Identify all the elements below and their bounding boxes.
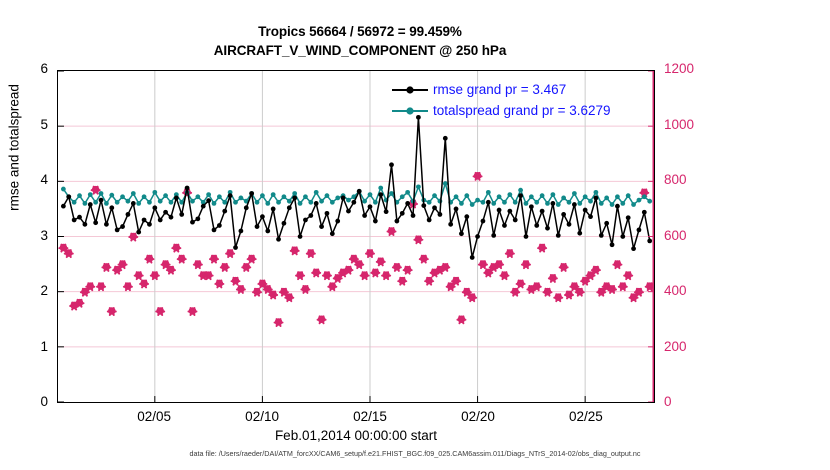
y-axis-left-label: rmse and totalspread — [7, 28, 22, 268]
x-tick-02-20: 02/20 — [461, 409, 495, 424]
y-tick-right-800: 800 — [664, 172, 687, 187]
y-tick-right-1200: 1200 — [664, 61, 694, 76]
y-tick-right-200: 200 — [664, 339, 687, 354]
x-tick-02-05: 02/05 — [137, 409, 171, 424]
legend-marker-totalspread — [390, 104, 430, 118]
legend-item-rmse[interactable]: rmse grand pr = 3.467 — [390, 79, 652, 100]
legend-item-totalspread[interactable]: totalspread grand pr = 3.6279 — [390, 100, 652, 121]
horizontal-gridlines — [58, 126, 654, 347]
y-tick-left-0: 0 — [0, 394, 48, 409]
chart-legend: rmse grand pr = 3.467 totalspread grand … — [390, 79, 652, 121]
legend-marker-rmse — [390, 83, 430, 97]
x-tick-02-15: 02/15 — [353, 409, 387, 424]
x-axis-label: Feb.01,2014 00:00:00 start — [57, 428, 655, 443]
y-tick-right-400: 400 — [664, 283, 687, 298]
chart-title: Tropics 56664 / 56972 = 99.459% AIRCRAFT… — [0, 22, 720, 60]
y-tick-left-2: 2 — [0, 283, 48, 298]
figure-container: Tropics 56664 / 56972 = 99.459% AIRCRAFT… — [0, 0, 830, 470]
series-lines — [61, 115, 652, 260]
chart-title-line1: Tropics 56664 / 56972 = 99.459% — [0, 22, 720, 41]
legend-label-totalspread: totalspread grand pr = 3.6279 — [433, 100, 611, 121]
y-tick-right-0: 0 — [664, 394, 672, 409]
y-tick-right-600: 600 — [664, 228, 687, 243]
data-file-footer: data file: /Users/raeder/DAI/ATM_forcXX/… — [0, 449, 830, 458]
y-tick-left-1: 1 — [0, 339, 48, 354]
legend-label-rmse: rmse grand pr = 3.467 — [433, 79, 566, 100]
x-tick-02-10: 02/10 — [245, 409, 279, 424]
chart-title-line2: AIRCRAFT_V_WIND_COMPONENT @ 250 hPa — [0, 41, 720, 60]
y-tick-right-1000: 1000 — [664, 117, 694, 132]
x-tick-02-25: 02/25 — [569, 409, 603, 424]
